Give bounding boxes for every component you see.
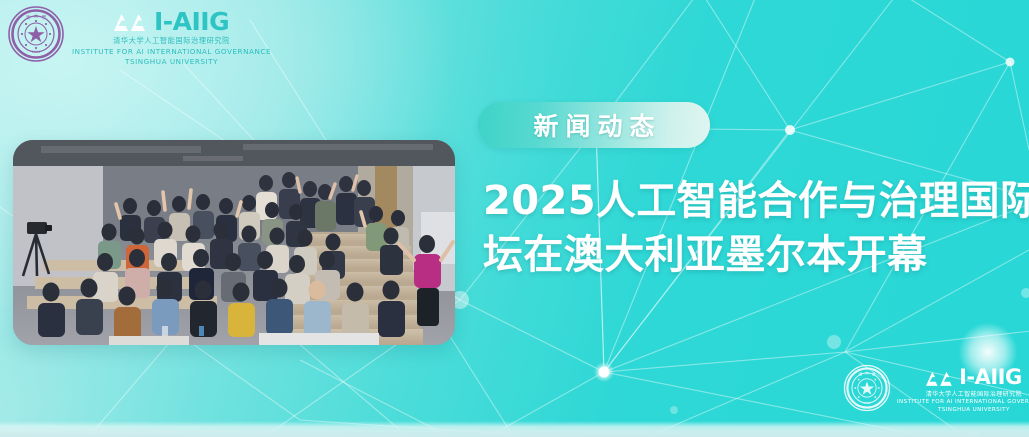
svg-text:學: 學 <box>872 372 876 377</box>
page-title-line1: 2025人工智能合作与治理国际论 <box>483 174 1023 228</box>
svg-text:學: 學 <box>42 14 47 21</box>
tsinghua-seal-icon-white: 清大學 ·1911· <box>842 363 892 413</box>
header-logo-en-line1: INSTITUTE FOR AI INTERNATIONAL GOVERNANC… <box>72 47 271 57</box>
svg-text:·1911·: ·1911· <box>863 401 872 405</box>
header-logo-cn-name: 清华大学人工智能国际治理研究院 <box>113 36 230 46</box>
footer-iaiig-wordmark: I-AIIG <box>926 367 1022 388</box>
iaiig-wordmark: I-AIIG <box>114 9 229 34</box>
svg-text:清: 清 <box>26 14 31 21</box>
footer-iaiig-text: I-AIIG <box>959 367 1022 388</box>
category-badge-label: 新闻动态 <box>526 107 661 143</box>
group-photo-image <box>13 140 455 345</box>
group-photo[interactable] <box>13 140 455 345</box>
bottom-light-band <box>0 421 1029 437</box>
aiig-peaks-icon <box>114 12 150 31</box>
category-badge[interactable]: 新闻动态 <box>478 102 710 148</box>
footer-logo[interactable]: 清大學 ·1911· I-AIIG 清 <box>842 363 1029 415</box>
svg-text:大: 大 <box>34 12 39 19</box>
header-logo[interactable]: 清大學 ·1911· I-AIIG <box>6 4 271 67</box>
svg-text:大: 大 <box>865 370 869 375</box>
header-logo-en-line2: TSINGHUA UNIVERSITY <box>72 57 271 67</box>
aiig-peaks-icon-white <box>926 370 956 386</box>
footer-logo-en-name: INSTITUTE FOR AI INTERNATIONAL GOVERNANC… <box>897 399 1029 415</box>
page-title: 2025人工智能合作与治理国际论 坛在澳大利亚墨尔本开幕 <box>483 174 1023 282</box>
footer-logo-cn-name: 清华大学人工智能国际治理研究院 <box>926 389 1022 398</box>
page-title-line2: 坛在澳大利亚墨尔本开幕 <box>483 228 1023 282</box>
footer-logo-en-line1: INSTITUTE FOR AI INTERNATIONAL GOVERNANC… <box>897 399 1029 407</box>
svg-text:·1911·: ·1911· <box>31 50 42 54</box>
iaiig-text: I-AIIG <box>154 9 229 34</box>
svg-text:清: 清 <box>859 372 863 377</box>
header-logo-en-name: INSTITUTE FOR AI INTERNATIONAL GOVERNANC… <box>72 47 271 67</box>
tsinghua-seal-icon: 清大學 ·1911· <box>6 4 66 64</box>
footer-logo-en-line2: TSINGHUA UNIVERSITY <box>897 407 1029 415</box>
news-banner: 清大學 ·1911· I-AIIG <box>0 0 1029 437</box>
